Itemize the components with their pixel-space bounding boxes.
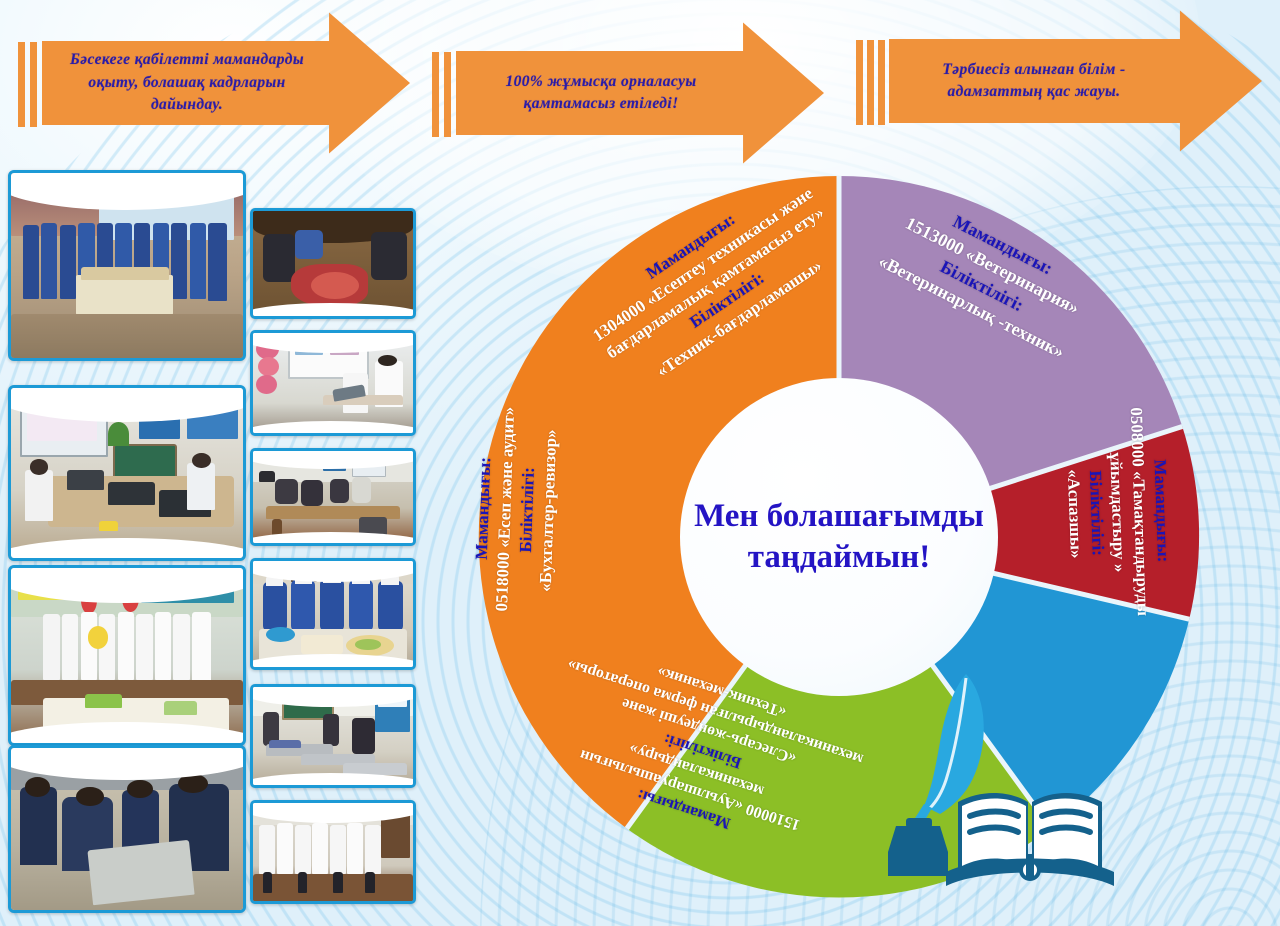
arrow-banner-1: Бәсекеге қабілетті мамандарды оқыту, бол… bbox=[18, 8, 410, 158]
arrow-banner-3: Тәрбиесіз алынған білім - адамзаттың қас… bbox=[856, 6, 1262, 156]
arrow-text-3: Тәрбиесіз алынған білім - адамзаттың қас… bbox=[900, 39, 1168, 123]
photo-chefs-pizza[interactable] bbox=[250, 558, 416, 670]
page-title: Мен болашағымды таңдаймын! bbox=[689, 496, 989, 579]
arrow-banner-2: 100% жұмысқа орналасуы қамтамасыз етілед… bbox=[432, 18, 824, 168]
photo-workshop-metal[interactable] bbox=[8, 745, 246, 913]
quill-book-icon bbox=[862, 656, 1142, 906]
photo-cooking-group[interactable] bbox=[8, 170, 246, 361]
arrow-banner-row: Бәсекеге қабілетті мамандарды оқыту, бол… bbox=[0, 0, 1280, 170]
arrow-text-1: Бәсекеге қабілетті мамандарды оқыту, бол… bbox=[52, 41, 322, 125]
arrow-text-2: 100% жұмысқа орналасуы қамтамасыз етілед… bbox=[466, 51, 736, 135]
photo-lab-demo[interactable] bbox=[250, 330, 416, 436]
photo-meat-processing[interactable] bbox=[250, 208, 416, 319]
segment-label-accounting-audit: Мамандығы: 0518000 «Есеп және аудит» Біл… bbox=[467, 358, 564, 661]
photo-classroom-desks[interactable] bbox=[250, 448, 416, 546]
photo-students-lineup[interactable] bbox=[250, 800, 416, 904]
photo-white-coats-group[interactable] bbox=[8, 565, 246, 746]
segment-label-catering: Мамандығы: 0508000 «Тамақтандыруды ұйымд… bbox=[1058, 361, 1177, 665]
photo-lab-benches[interactable] bbox=[250, 684, 416, 788]
poster-canvas: Бәсекеге қабілетті мамандарды оқыту, бол… bbox=[0, 0, 1280, 926]
photo-computer-class[interactable] bbox=[8, 385, 246, 561]
